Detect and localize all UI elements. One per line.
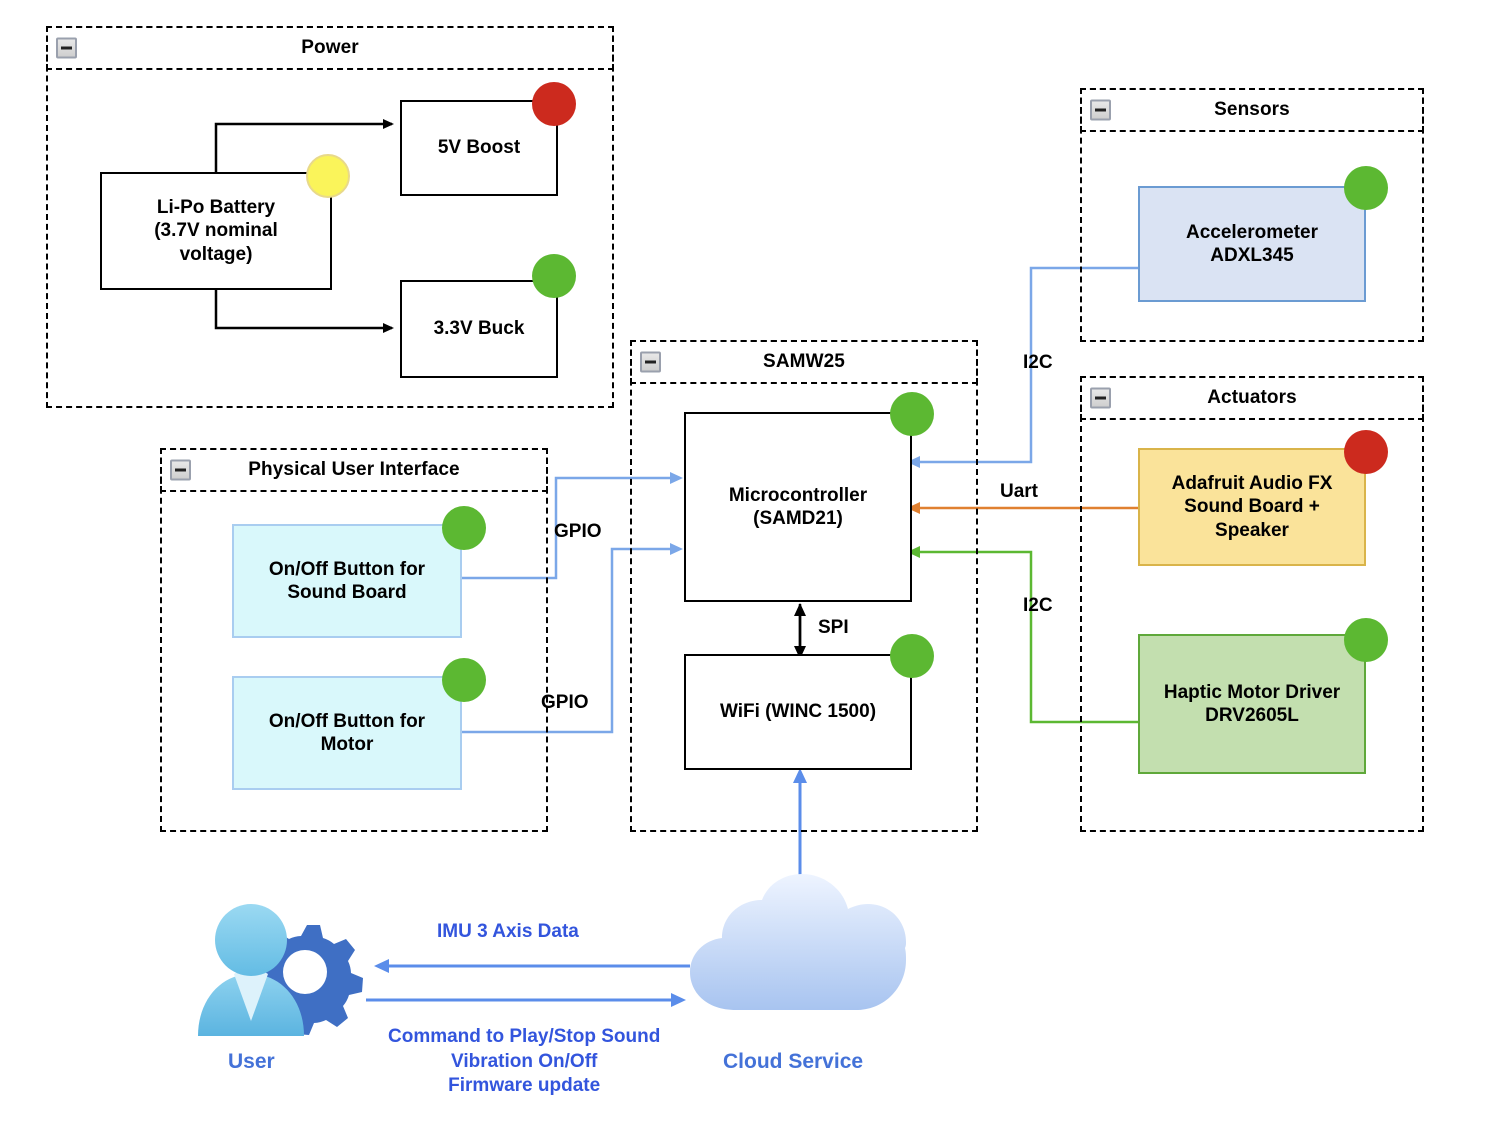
minus-square-icon[interactable] bbox=[170, 460, 191, 481]
edge-label-gpio-motor: GPIO bbox=[541, 692, 589, 714]
status-dot-button-sound bbox=[442, 506, 486, 550]
actor-label-user: User bbox=[228, 1050, 275, 1074]
group-actuators-header[interactable]: Actuators bbox=[1080, 376, 1424, 420]
status-dot-microcontroller bbox=[890, 392, 934, 436]
status-dot-button-motor bbox=[442, 658, 486, 702]
group-actuators-title: Actuators bbox=[1207, 387, 1297, 409]
node-button-motor[interactable]: On/Off Button forMotor bbox=[232, 676, 462, 790]
group-samw25-header[interactable]: SAMW25 bbox=[630, 340, 978, 384]
group-pui-title: Physical User Interface bbox=[248, 459, 459, 481]
node-li-po-battery[interactable]: Li-Po Battery(3.7V nominalvoltage) bbox=[100, 172, 332, 290]
node-accelerometer[interactable]: AccelerometerADXL345 bbox=[1138, 186, 1366, 302]
actor-label-cloud-service: Cloud Service bbox=[723, 1050, 863, 1074]
edge-label-i2c-haptic: I2C bbox=[1023, 595, 1053, 617]
minus-square-icon[interactable] bbox=[56, 38, 77, 59]
group-samw25-title: SAMW25 bbox=[763, 351, 845, 373]
group-power-header[interactable]: Power bbox=[46, 26, 614, 70]
minus-square-icon[interactable] bbox=[1090, 100, 1111, 121]
status-dot-battery bbox=[306, 154, 350, 198]
status-dot-3v3-buck bbox=[532, 254, 576, 298]
node-sound-board[interactable]: Adafruit Audio FXSound Board +Speaker bbox=[1138, 448, 1366, 566]
status-dot-5v-boost bbox=[532, 82, 576, 126]
flow-label-downlink: Command to Play/Stop SoundVibration On/O… bbox=[388, 1025, 660, 1099]
node-wifi[interactable]: WiFi (WINC 1500) bbox=[684, 654, 912, 770]
minus-square-icon[interactable] bbox=[1090, 388, 1111, 409]
status-dot-sound-board bbox=[1344, 430, 1388, 474]
node-button-sound-board[interactable]: On/Off Button forSound Board bbox=[232, 524, 462, 638]
group-sensors-header[interactable]: Sensors bbox=[1080, 88, 1424, 132]
group-sensors-title: Sensors bbox=[1214, 99, 1290, 121]
diagram-canvas: Power Sensors SAMW25 Actuators Physical … bbox=[0, 0, 1486, 1128]
node-haptic-motor-driver[interactable]: Haptic Motor DriverDRV2605L bbox=[1138, 634, 1366, 774]
flow-label-uplink: IMU 3 Axis Data bbox=[437, 920, 579, 945]
edge-label-spi: SPI bbox=[818, 617, 849, 639]
node-3v3-buck[interactable]: 3.3V Buck bbox=[400, 280, 558, 378]
user-gear-icon bbox=[198, 904, 363, 1036]
edge-label-i2c-accelerometer: I2C bbox=[1023, 352, 1053, 374]
cloud-icon bbox=[690, 874, 906, 1010]
edge-label-gpio-sound: GPIO bbox=[554, 521, 602, 543]
status-dot-haptic bbox=[1344, 618, 1388, 662]
minus-square-icon[interactable] bbox=[640, 352, 661, 373]
group-pui-header[interactable]: Physical User Interface bbox=[160, 448, 548, 492]
group-power-title: Power bbox=[301, 37, 359, 59]
edge-label-uart-sound-board: Uart bbox=[1000, 481, 1038, 503]
status-dot-wifi bbox=[890, 634, 934, 678]
status-dot-accelerometer bbox=[1344, 166, 1388, 210]
node-microcontroller[interactable]: Microcontroller(SAMD21) bbox=[684, 412, 912, 602]
